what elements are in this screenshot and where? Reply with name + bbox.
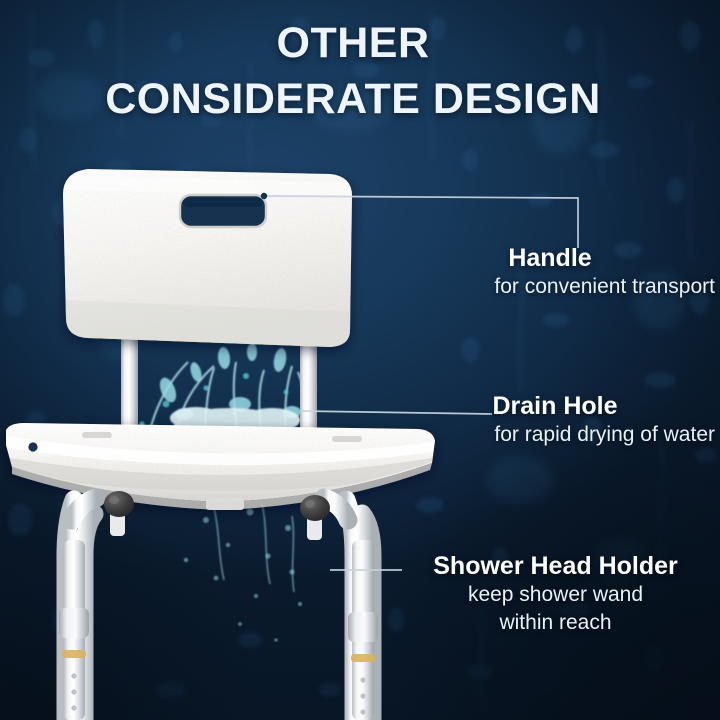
callout-drain-hole-subtitle: for rapid drying of water bbox=[395, 423, 715, 448]
callout-drain-hole: Drain Hole for rapid drying of water bbox=[395, 392, 715, 448]
callout-shower-head-holder-title: Shower Head Holder bbox=[393, 552, 718, 580]
callout-handle-subtitle: for convenient transport bbox=[385, 275, 715, 300]
callout-drain-hole-title: Drain Hole bbox=[395, 392, 715, 420]
drain-hole-marker bbox=[28, 442, 37, 451]
height-adjust-collar bbox=[59, 608, 378, 715]
backrest-post-right bbox=[300, 340, 317, 442]
headline-line-1: OTHER bbox=[0, 22, 706, 66]
shower-head-holder-left bbox=[104, 491, 134, 536]
shower-head-holder-right bbox=[300, 495, 330, 540]
handle-slot bbox=[180, 195, 266, 227]
callout-shower-head-holder: Shower Head Holder keep shower wand with… bbox=[393, 552, 718, 636]
callout-handle: Handle for convenient transport bbox=[385, 244, 715, 300]
seat-bracket bbox=[206, 498, 244, 510]
callout-handle-title: Handle bbox=[385, 244, 715, 272]
callout-shower-head-holder-subtitle-line-2: within reach bbox=[393, 611, 718, 636]
headline-line-2: CONSIDERATE DESIGN bbox=[0, 78, 706, 122]
product-infographic: OTHER CONSIDERATE DESIGN Handle for conv… bbox=[0, 0, 720, 720]
page-title: OTHER CONSIDERATE DESIGN bbox=[0, 22, 720, 122]
backrest bbox=[60, 165, 360, 355]
callout-shower-head-holder-subtitle-line-1: keep shower wand bbox=[393, 583, 718, 608]
